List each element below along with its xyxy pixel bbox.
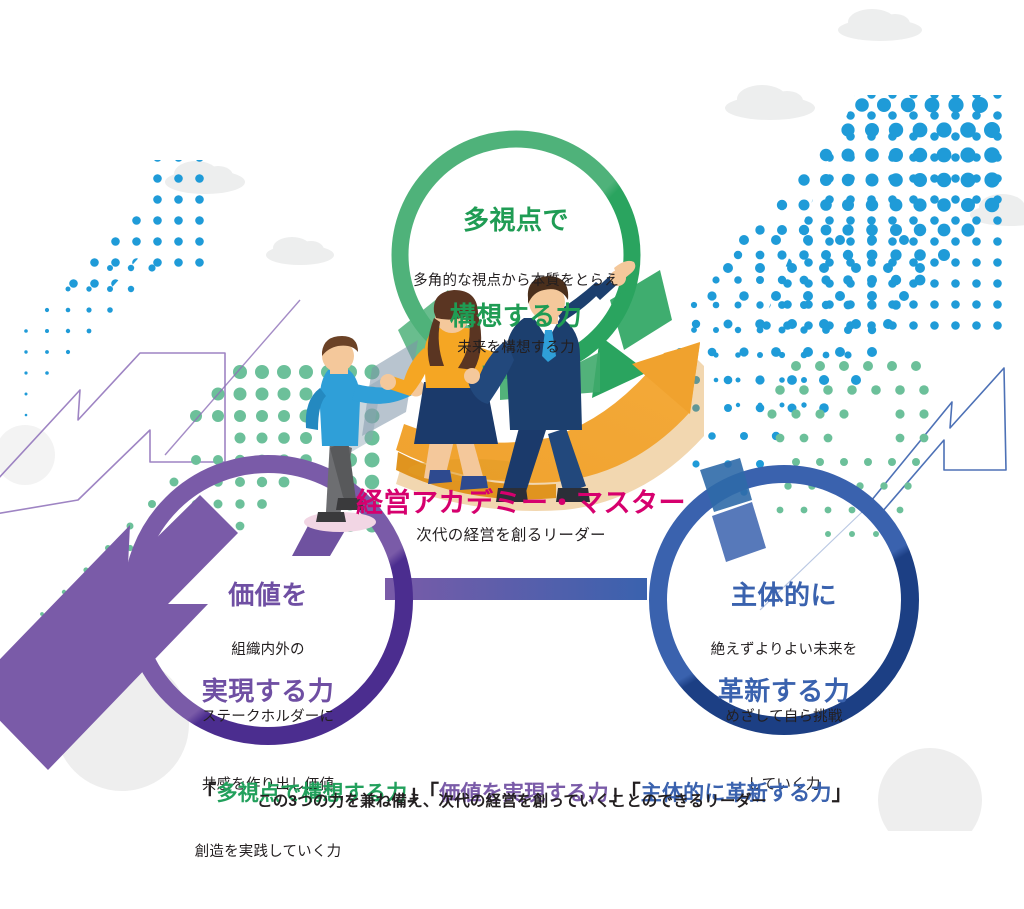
node-desc-line2: ステークホルダーに [148, 706, 388, 728]
infographic-canvas: 多視点で 構想する力 多角的な視点から本質をとらえ 未来を構想する力 価値を 実… [0, 0, 1024, 831]
node-desc-line2: 未来を構想する力 [376, 337, 656, 359]
caption-line2: この3つの力を兼ね備え、次代の経営を創っていくことのできるリーダー [112, 793, 912, 812]
node-multi-perspective-description: 多角的な視点から本質をとらえ 未来を構想する力 [376, 225, 656, 405]
node-desc-line4: 創造を実践していく力 [148, 841, 388, 863]
node-desc-line2: めざして自ら挑戦 [664, 706, 904, 728]
center-brand-title: 経営アカデミー・マスター [356, 487, 666, 520]
center-brand-subtitle: 次代の経営を創るリーダー [386, 527, 636, 546]
node-desc-line1: 組織内外の [148, 639, 388, 661]
node-desc-line1: 多角的な視点から本質をとらえ [376, 270, 656, 292]
node-desc-line1: 絶えずよりよい未来を [664, 639, 904, 661]
node-realize-value-description: 組織内外の ステークホルダーに 共感を作り出し価値 創造を実践していく力 [148, 594, 388, 909]
chevron-blue-small [700, 458, 752, 512]
